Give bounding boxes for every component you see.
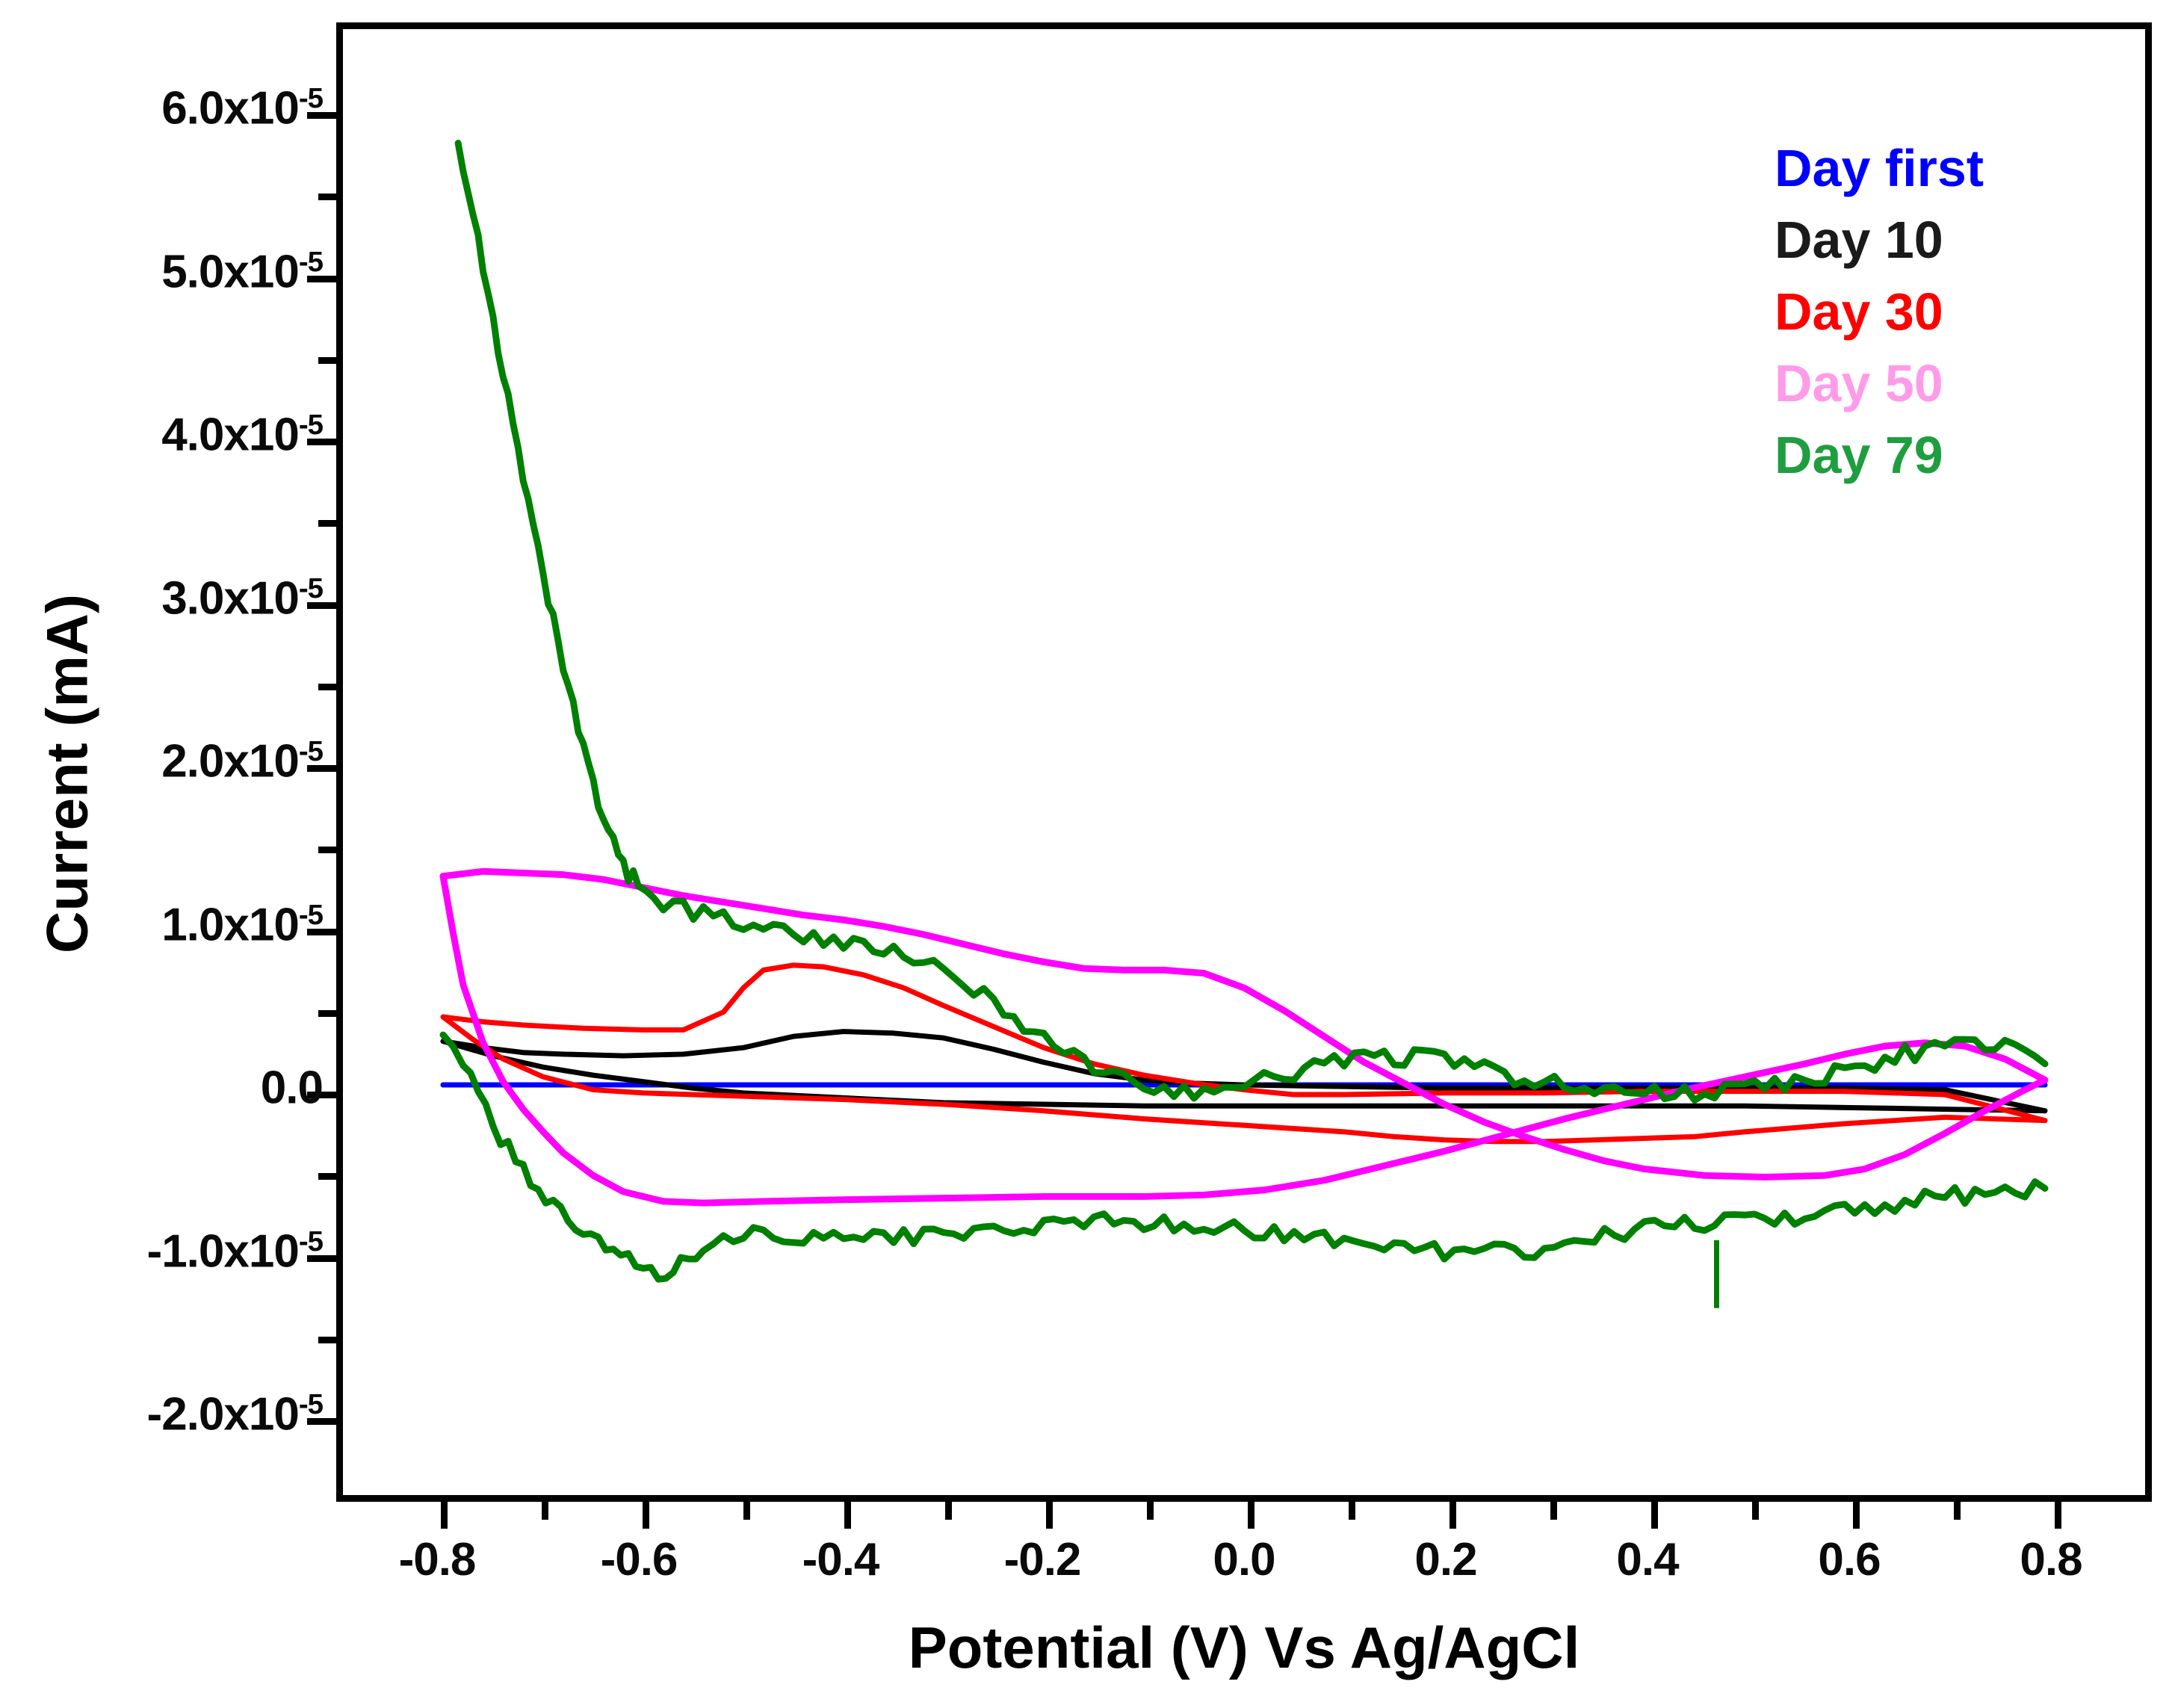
x-tick-label: -0.2 <box>1004 1533 1081 1586</box>
x-tick-label: -0.4 <box>802 1533 879 1586</box>
y-tick-minor <box>318 1173 343 1180</box>
x-tick-label: -0.8 <box>399 1533 476 1586</box>
legend-entry-day-30: Day 30 <box>1775 285 1984 338</box>
x-tick-minor <box>1954 1495 1961 1520</box>
y-tick-minor <box>318 357 343 364</box>
series-day-50 <box>443 871 2045 1203</box>
y-axis-title: Current (mA) <box>34 363 102 1185</box>
y-tick-label: -2.0x10-5 <box>147 1388 323 1441</box>
x-tick-minor <box>1147 1495 1154 1520</box>
series-day-10 <box>443 1032 2045 1111</box>
y-tick-minor <box>318 1337 343 1343</box>
x-tick-major <box>1853 1495 1860 1529</box>
y-tick-label: 6.0x10-5 <box>161 82 323 135</box>
legend-entry-day-79: Day 79 <box>1775 429 1984 481</box>
x-tick-major <box>1248 1495 1254 1529</box>
y-tick-label: 1.0x10-5 <box>161 898 323 951</box>
y-tick-minor <box>318 194 343 200</box>
y-tick-minor <box>318 520 343 527</box>
curve-forward <box>443 871 2045 1177</box>
x-tick-major <box>1651 1495 1658 1529</box>
curve-forward <box>443 1032 2045 1111</box>
x-tick-minor <box>1550 1495 1557 1520</box>
x-tick-label: 0.4 <box>1616 1533 1678 1586</box>
legend-entry-day-50: Day 50 <box>1775 357 1984 409</box>
x-tick-major <box>1046 1495 1053 1529</box>
x-tick-minor <box>1752 1495 1759 1520</box>
y-tick-label: 3.0x10-5 <box>161 572 323 625</box>
curve-reverse <box>443 876 2045 1203</box>
chart-legend: Day firstDay 10Day 30Day 50Day 79 <box>1775 142 1984 481</box>
y-tick-minor <box>318 684 343 690</box>
x-tick-label: 0.8 <box>2020 1533 2082 1586</box>
x-axis-title: Potential (V) Vs Ag/AgCl <box>336 1614 2152 1682</box>
chart-root: Current (mA) -0.8-0.6-0.4-0.20.00.20.40.… <box>0 0 2175 1708</box>
x-tick-minor <box>1349 1495 1355 1520</box>
x-tick-major <box>1450 1495 1456 1529</box>
x-tick-minor <box>945 1495 952 1520</box>
x-tick-major <box>844 1495 851 1529</box>
x-tick-label: 0.0 <box>1213 1533 1275 1586</box>
y-tick-label: 4.0x10-5 <box>161 409 323 462</box>
y-tick-label: -1.0x10-5 <box>147 1225 323 1278</box>
x-tick-label: 0.6 <box>1818 1533 1880 1586</box>
x-tick-major <box>643 1495 649 1529</box>
x-tick-major <box>2055 1495 2061 1529</box>
legend-entry-day-first: Day first <box>1775 142 1984 194</box>
x-tick-minor <box>743 1495 750 1520</box>
curve-reverse <box>443 1035 2045 1279</box>
y-tick-minor <box>318 1010 343 1017</box>
x-tick-minor <box>542 1495 548 1520</box>
y-tick-label: 5.0x10-5 <box>161 245 323 298</box>
x-tick-label: -0.6 <box>601 1533 678 1586</box>
y-tick-label: 0.0 <box>261 1062 323 1115</box>
x-tick-major <box>441 1495 448 1529</box>
x-tick-label: 0.2 <box>1414 1533 1476 1586</box>
y-tick-label: 2.0x10-5 <box>161 735 323 788</box>
y-tick-minor <box>318 847 343 853</box>
legend-entry-day-10: Day 10 <box>1775 214 1984 266</box>
